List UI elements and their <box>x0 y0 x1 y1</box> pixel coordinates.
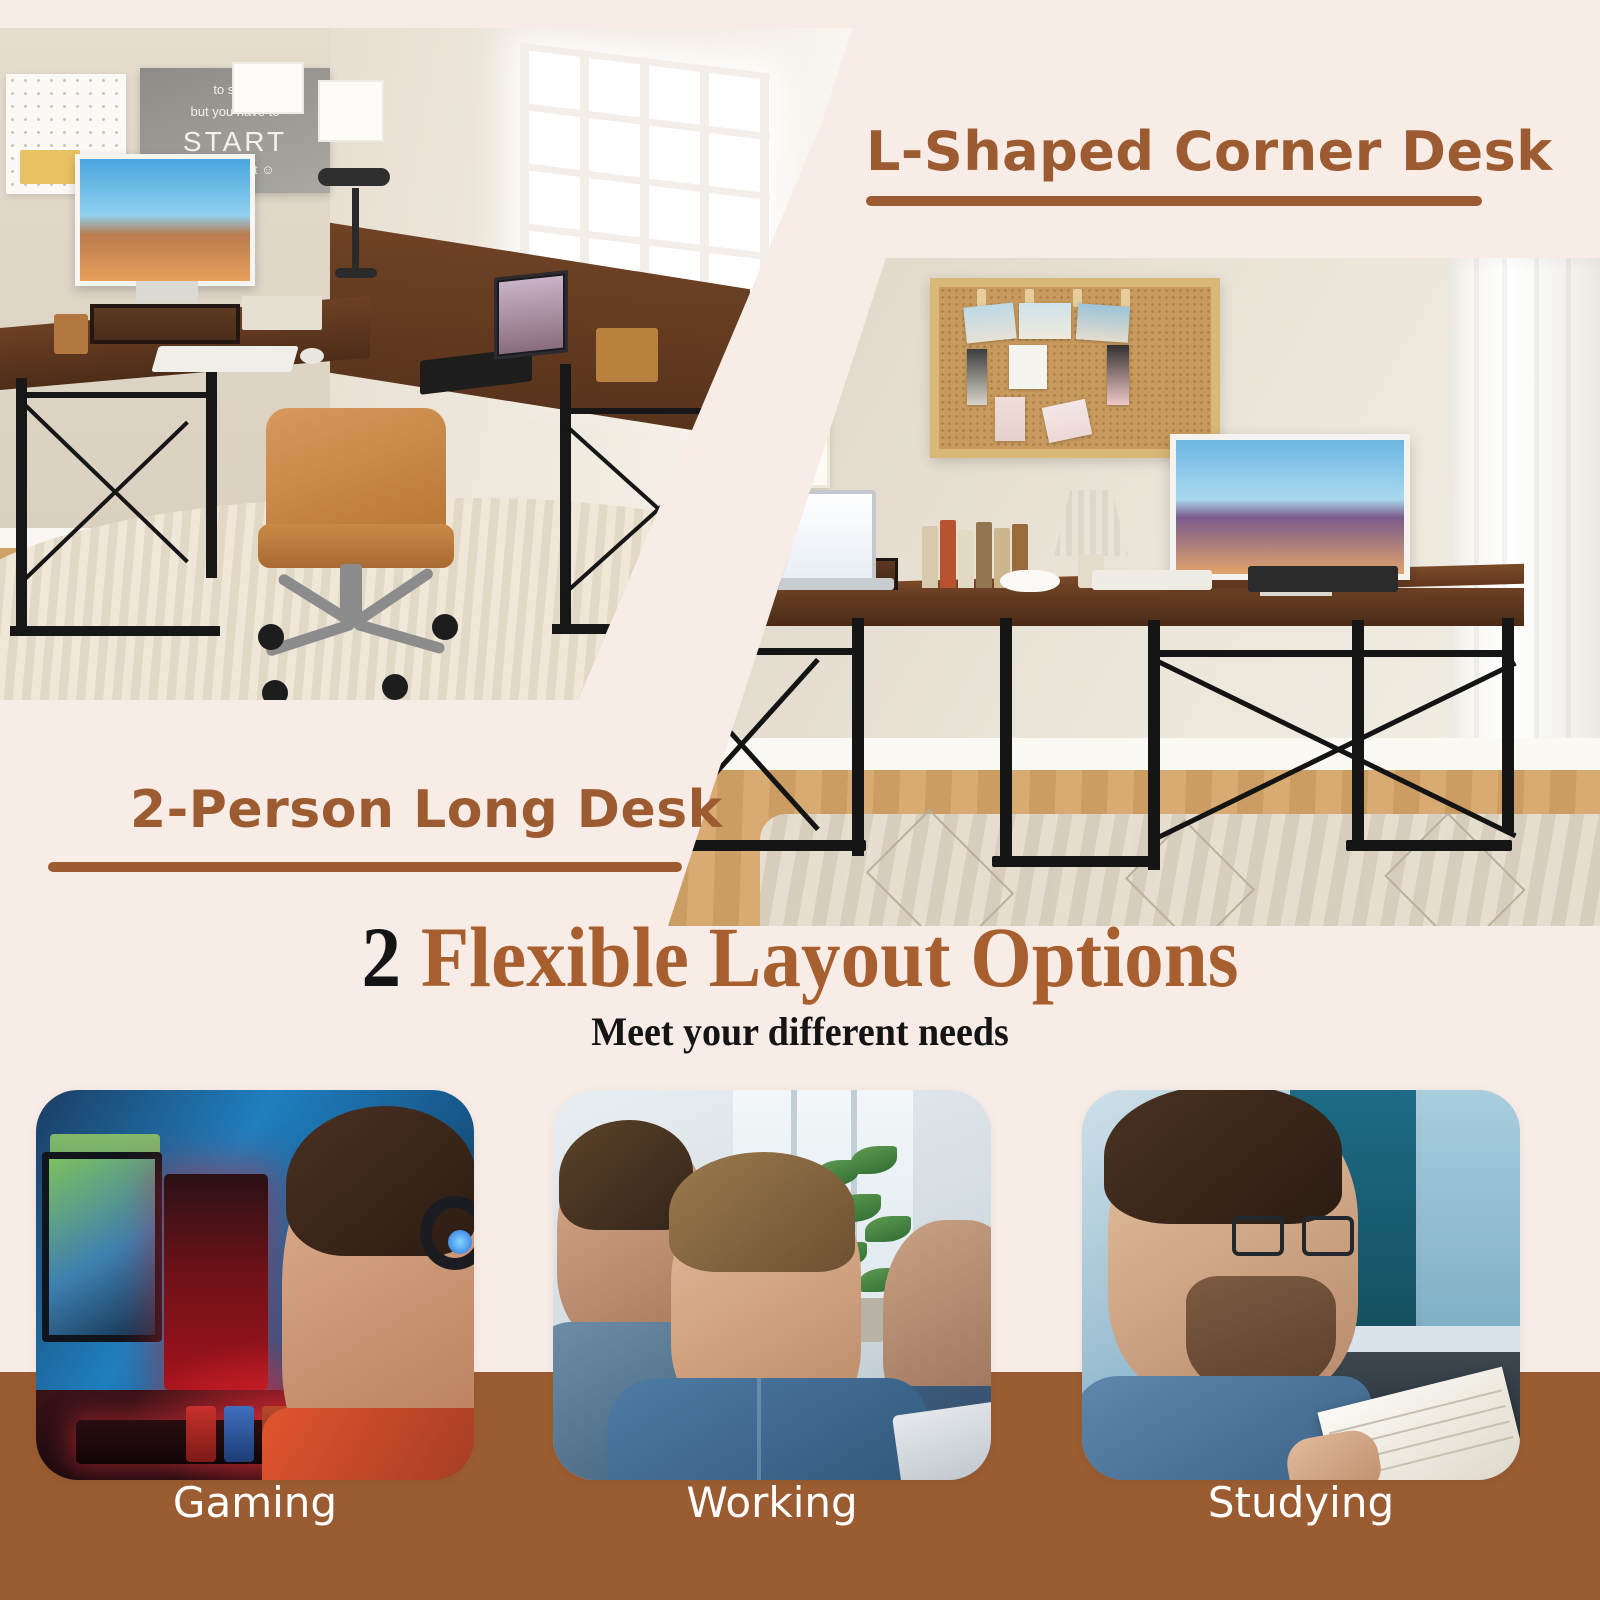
use-case-label-studying: Studying <box>1082 1478 1520 1527</box>
keyboard <box>151 346 298 372</box>
corner-desk-title: L-Shaped Corner Desk <box>866 120 1553 183</box>
coffee-cup <box>1000 570 1060 592</box>
caster-4 <box>432 614 458 640</box>
corkboard <box>930 278 1220 458</box>
use-case-card-gaming <box>36 1090 474 1480</box>
monitor-riser <box>90 304 240 344</box>
desk-leg-3 <box>1000 618 1012 864</box>
desk-organizer <box>596 328 658 382</box>
monitor <box>1170 434 1410 580</box>
working-photo <box>553 1090 991 1480</box>
desk-lamp-pole <box>352 188 359 274</box>
desk-brace-bar-2 <box>1152 650 1508 657</box>
corner-desk-title-rule <box>866 196 1482 206</box>
desk-top <box>644 588 1524 626</box>
long-desk-title: 2-Person Long Desk <box>130 780 723 840</box>
pen-cup <box>54 314 88 354</box>
desk-foot-3 <box>1346 840 1512 851</box>
wall-art-2 <box>318 80 384 142</box>
use-case-label-gaming: Gaming <box>36 1478 474 1527</box>
desk-books <box>242 296 322 330</box>
office-chair-seat <box>258 524 454 568</box>
use-case-label-working: Working <box>553 1478 991 1527</box>
tablet <box>494 270 568 360</box>
page-subheadline: Meet your different needs <box>40 1008 1560 1055</box>
use-case-card-working <box>553 1090 991 1480</box>
keyboard <box>1092 570 1212 590</box>
wall-art-1 <box>232 62 304 114</box>
office-chair-back <box>266 408 446 538</box>
office-chair-base <box>262 606 452 640</box>
studying-photo <box>1082 1090 1520 1480</box>
long-desk-title-rule <box>48 862 682 872</box>
headline-text: Flexible Layout Options <box>401 909 1238 1005</box>
mouse-pad <box>1248 566 1398 592</box>
desk-lamp-head <box>318 168 390 186</box>
caster-3 <box>382 674 408 700</box>
headline-number: 2 <box>361 909 401 1005</box>
desk-lamp-base <box>335 268 377 278</box>
window-curtain <box>1450 258 1600 818</box>
gaming-photo <box>36 1090 474 1480</box>
page-headline: 2 Flexible Layout Options <box>64 912 1536 1002</box>
baseboard <box>640 738 1600 774</box>
desk-foot-2 <box>992 856 1160 867</box>
monitor <box>75 154 255 286</box>
use-case-card-studying <box>1082 1090 1520 1480</box>
desk-leg-4 <box>1148 620 1160 870</box>
product-infographic-page: to start, but you have to START to be gr… <box>0 0 1600 1600</box>
caster-1 <box>258 624 284 650</box>
mouse <box>300 348 324 364</box>
